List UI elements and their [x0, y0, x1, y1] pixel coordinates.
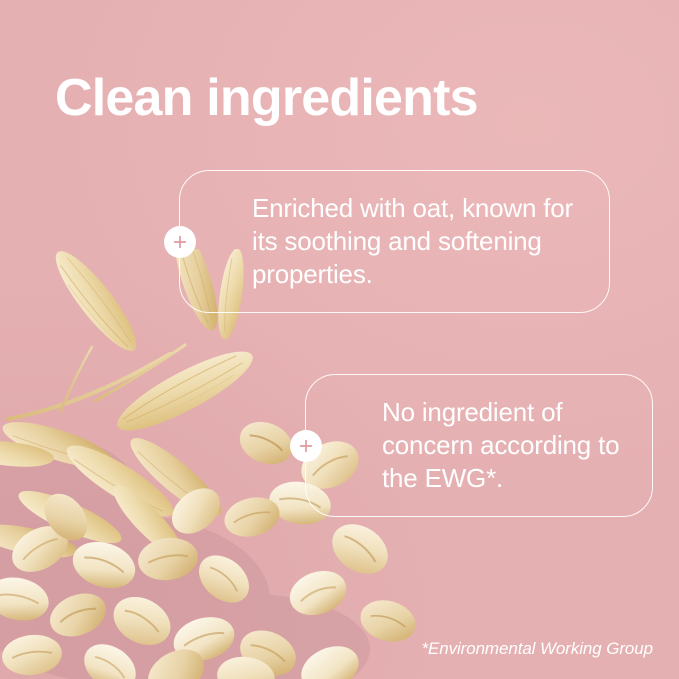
feature-card-text: Enriched with oat, known for its soothin… [252, 192, 589, 291]
feature-card-ewg: No ingredient of concern according to th… [305, 374, 653, 517]
feature-card-text: No ingredient of concern according to th… [382, 396, 636, 495]
page-title: Clean ingredients [55, 71, 478, 126]
plus-icon [164, 226, 196, 258]
footnote: *Environmental Working Group [421, 639, 653, 659]
ingredient-infographic: Clean ingredients Enriched with oat, kno… [0, 0, 679, 679]
plus-icon [290, 430, 322, 462]
feature-card-oat: Enriched with oat, known for its soothin… [179, 170, 610, 313]
